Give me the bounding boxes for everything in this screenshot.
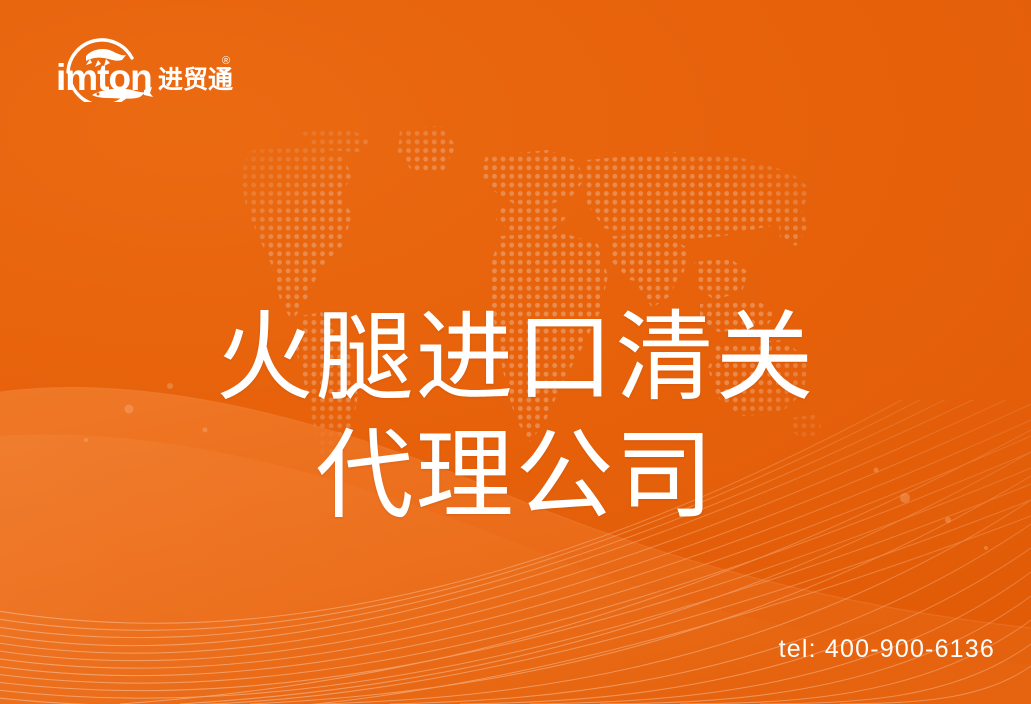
contact-phone[interactable]: tel: 400-900-6136 <box>779 634 995 664</box>
logo-wordmark: imton <box>56 57 152 98</box>
logo-artwork: imton 进贸通 ® <box>34 28 234 102</box>
registered-trademark-icon: ® <box>222 55 230 67</box>
headline: 火腿进口清关 代理公司 <box>0 299 1031 535</box>
logo-chinese-name: 进贸通 <box>158 65 233 94</box>
company-logo[interactable]: imton 进贸通 ® <box>34 28 234 102</box>
promo-banner: imton 进贸通 ® 火腿进口清关 代理公司 tel: 400-900-613… <box>0 0 1031 704</box>
headline-line-1: 火腿进口清关 <box>0 299 1031 417</box>
headline-line-2: 代理公司 <box>0 417 1031 535</box>
